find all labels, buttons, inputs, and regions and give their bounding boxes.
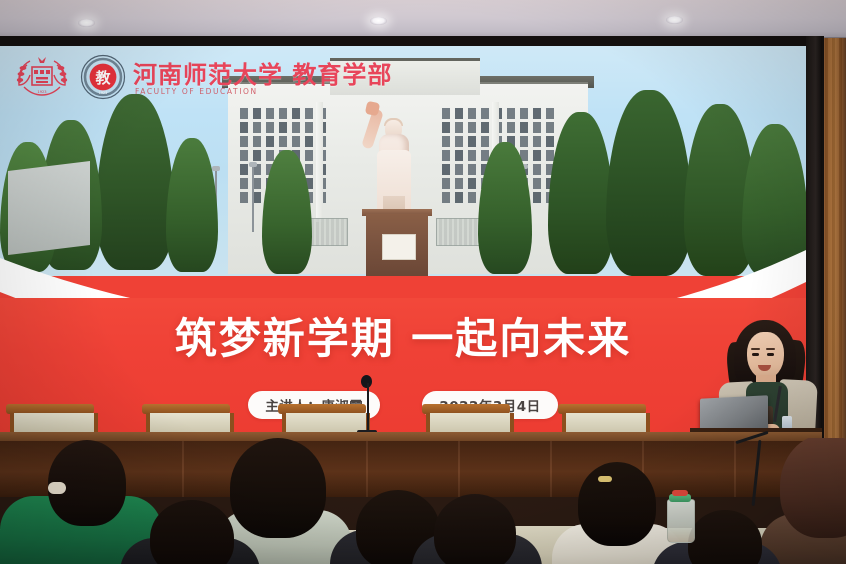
- lecture-hall-scene: 1923 教 1923 河南师范大学 教育学部 FACULTY OF EDUCA…: [0, 0, 846, 564]
- gooseneck-microphone-stand: [367, 383, 369, 435]
- department-name-cn: 教育学部: [292, 61, 392, 89]
- building-pillar: [316, 102, 323, 222]
- ceiling-downlight: [666, 16, 683, 24]
- hair-clip: [598, 476, 612, 482]
- audience-head: [578, 462, 656, 546]
- university-crest-logo: 1923: [14, 55, 70, 99]
- audience-head: [688, 510, 762, 564]
- svg-text:1923: 1923: [99, 91, 108, 95]
- ceiling-downlight: [370, 17, 387, 25]
- institution-name-cn: 河南师范大学: [133, 61, 283, 89]
- slide-badges: 主讲人：康淑霞 2022年3月4日: [0, 391, 806, 419]
- street-lamp: [252, 166, 254, 232]
- led-screen: 1923 教 1923 河南师范大学 教育学部 FACULTY OF EDUCA…: [0, 46, 806, 458]
- screen-header: 1923 教 1923 河南师范大学 教育学部 FACULTY OF EDUCA…: [0, 46, 806, 106]
- water-bottle: [667, 499, 695, 543]
- campus-side-building: [8, 161, 90, 255]
- slide-title: 筑梦新学期 一起向未来: [0, 318, 806, 360]
- institution-title: 河南师范大学 教育学部: [133, 55, 392, 90]
- audience: [0, 438, 846, 564]
- audience-head: [150, 500, 234, 564]
- audience-head: [230, 438, 326, 538]
- hair-tie: [48, 482, 66, 494]
- seal-character: 教: [94, 69, 111, 87]
- ceiling-downlight: [78, 19, 95, 27]
- svg-text:1923: 1923: [37, 90, 46, 94]
- faculty-seal-logo: 教 1923: [80, 54, 126, 100]
- audience-head: [780, 438, 846, 538]
- audience-head: [434, 494, 516, 564]
- water-bottle-cap-top: [672, 490, 688, 496]
- institution-title-en: FACULTY OF EDUCATION: [135, 87, 258, 96]
